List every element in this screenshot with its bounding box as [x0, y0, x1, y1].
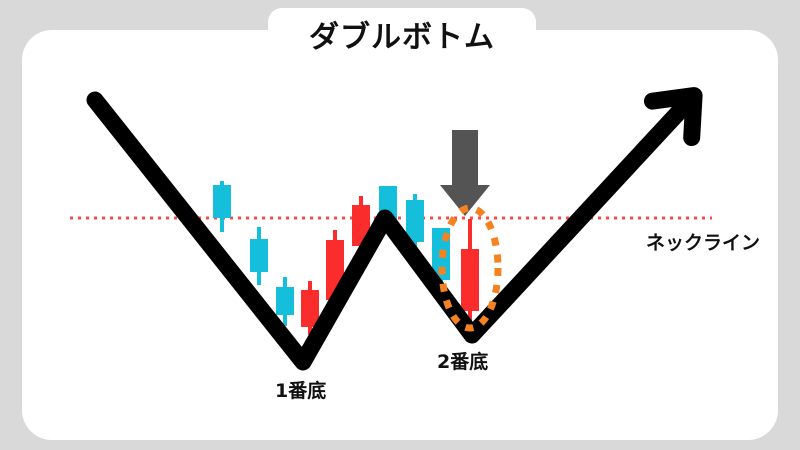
candlestick-1 [250, 227, 268, 285]
candle-body-9 [461, 249, 479, 311]
candle-body-0 [213, 185, 231, 218]
candle-body-3 [301, 290, 319, 327]
candlestick-0 [213, 181, 231, 232]
chart-canvas: ダブルボトム ネックライン 1番底 2番底 [0, 0, 800, 450]
entry-down-arrow-icon [440, 130, 490, 216]
candle-body-1 [250, 239, 268, 272]
chart-title-tab: ダブルボトム [268, 8, 536, 68]
first-bottom-label: 1番底 [275, 376, 326, 403]
candle-body-2 [276, 287, 294, 315]
price-trend-line [95, 100, 690, 362]
second-bottom-label: 2番底 [437, 347, 488, 374]
neckline-label: ネックライン [646, 228, 760, 255]
page-title: ダブルボトム [309, 23, 495, 53]
